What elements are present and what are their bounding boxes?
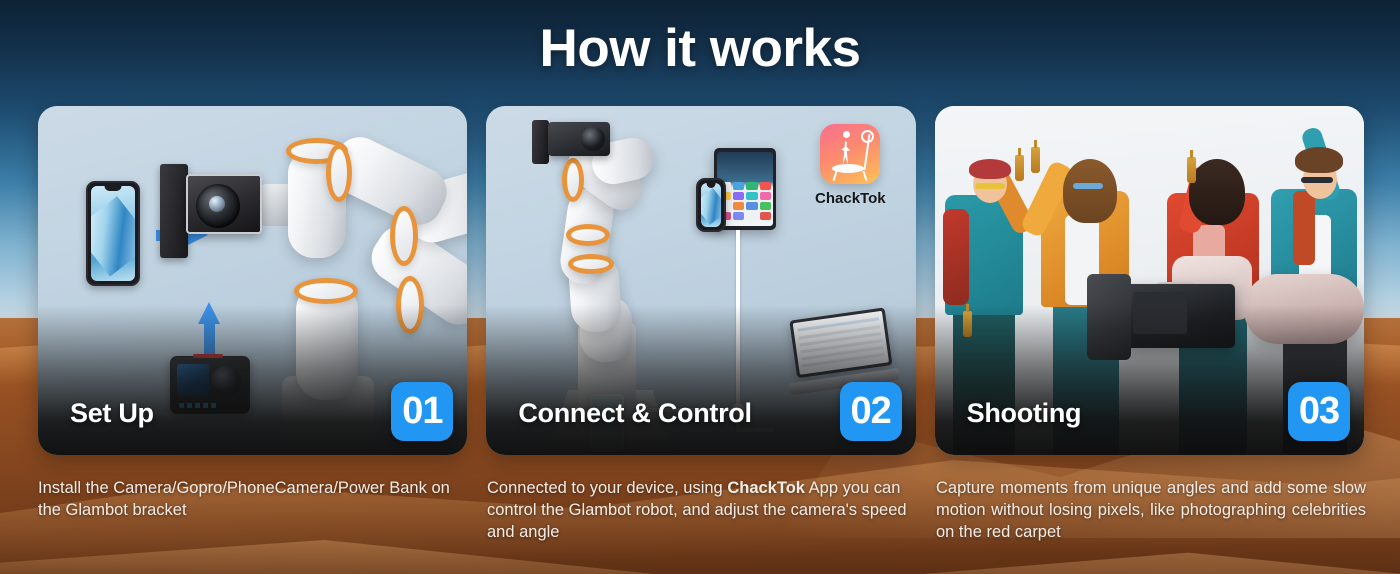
camera-lens	[581, 127, 605, 151]
camera-bracket	[532, 120, 549, 164]
step-badge-01: 01	[391, 382, 453, 441]
tablet-app-grid	[719, 182, 771, 220]
camera-lens	[196, 184, 240, 228]
caption-shooting: Capture moments from unique angles and a…	[936, 478, 1366, 568]
chacktok-app-icon[interactable]	[820, 124, 880, 184]
step-badge-02: 02	[840, 382, 902, 441]
robot-joint-ring-3	[390, 206, 418, 266]
card-label-shooting: Shooting	[967, 398, 1082, 429]
robot-joint-ring-2	[326, 144, 352, 202]
dancer-head-icon	[843, 131, 850, 138]
steps-card-row: Set Up 01	[38, 106, 1364, 455]
mounted-camera	[548, 122, 610, 156]
app-name-label: ChackTok	[786, 190, 914, 207]
caption-connect-control: Connected to your device, using ChackTok…	[487, 478, 917, 568]
phone-notch	[105, 186, 122, 191]
dslr-camera	[186, 174, 262, 234]
robot-joint-ring-2	[566, 224, 610, 246]
page-title: How it works	[0, 18, 1400, 79]
step-badge-03: 03	[1288, 382, 1350, 441]
dancer-icon	[841, 141, 850, 165]
step-card-connect-control[interactable]: ChackTok Connect & Control 02	[486, 106, 915, 455]
card-label-connect-control: Connect & Control	[518, 398, 751, 429]
caption-pre: Connected to your device, using	[487, 479, 727, 497]
caption-set-up: Install the Camera/Gopro/PhoneCamera/Pow…	[38, 478, 468, 568]
captions-row: Install the Camera/Gopro/PhoneCamera/Pow…	[38, 478, 1370, 568]
robot-joint-ring-5	[294, 278, 358, 304]
ring-icon	[861, 130, 874, 143]
robot-joint-ring-3	[568, 254, 614, 274]
smartphone-illustration	[86, 181, 140, 286]
card-label-set-up: Set Up	[70, 398, 154, 429]
camera-bracket	[160, 164, 188, 258]
smartphone-illustration	[696, 178, 726, 232]
step-card-shooting[interactable]: Shooting 03	[935, 106, 1364, 455]
step-card-set-up[interactable]: Set Up 01	[38, 106, 467, 455]
caption-app-name: ChackTok	[727, 479, 805, 497]
phone-screen	[91, 186, 135, 281]
phone-wallpaper	[91, 196, 135, 276]
